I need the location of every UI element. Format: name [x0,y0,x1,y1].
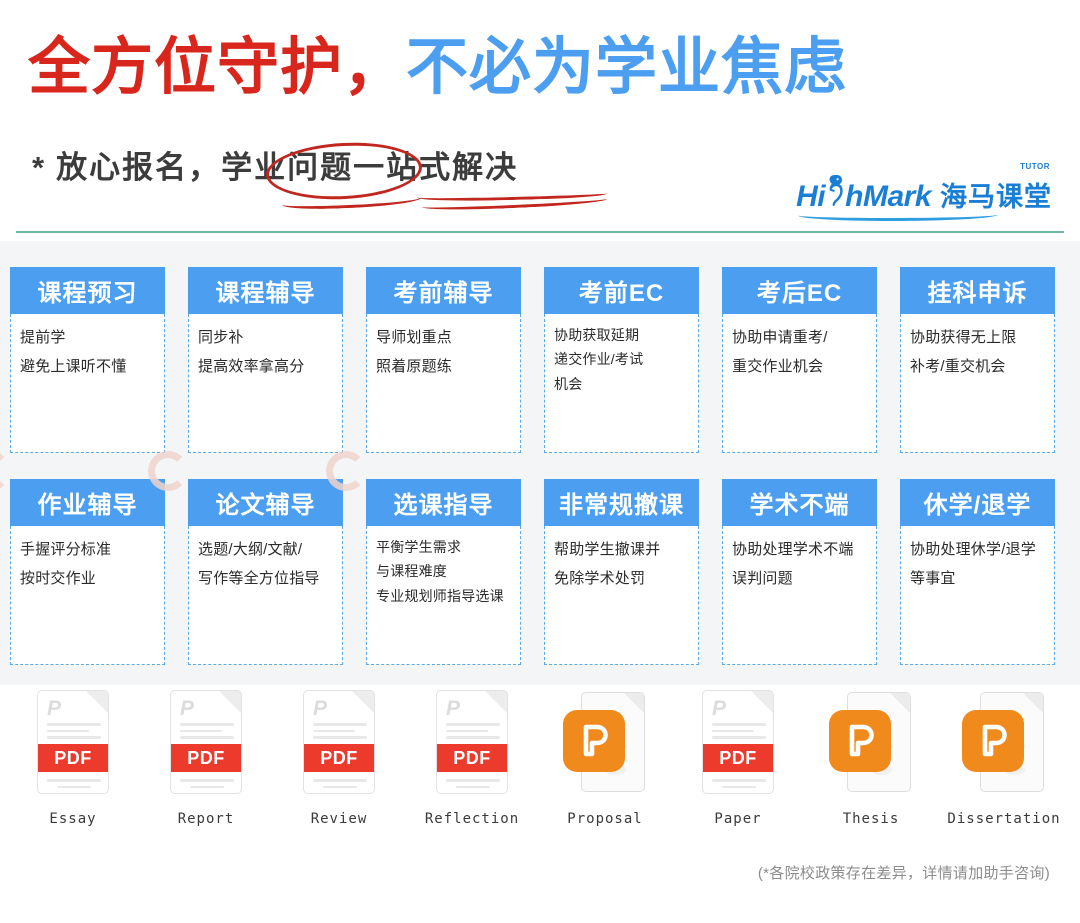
orange-p-badge-icon [829,710,891,772]
red-underline-annotation-icon-3 [422,194,607,212]
service-card-line: 等事宜 [910,571,1045,588]
page-title-blue: 不必为学业焦虑 [406,33,847,102]
text-lines-decor-bottom [446,779,500,792]
service-card[interactable]: 考后EC协助申请重考/重交作业机会 [722,267,877,453]
service-card-line: 选题/大纲/文献/ [198,542,333,559]
service-card[interactable]: 休学/退学协助处理休学/退学等事宜 [900,479,1055,665]
page-title: 全方位守护，不必为学业焦虑 [28,34,847,102]
document-type-label: Paper [714,811,761,827]
text-lines-decor [47,723,101,743]
logo-swoosh-icon [798,209,998,221]
text-lines-decor-bottom [180,779,234,792]
text-lines-decor-bottom [313,779,367,792]
service-card[interactable]: 作业辅导手握评分标准按时交作业 [10,479,165,665]
page-fold-icon [1023,693,1043,713]
pdf-file-icon: PPDF [428,690,516,802]
service-card-title: 论文辅导 [188,479,343,526]
document-type-item[interactable]: PPDFReport [159,690,253,827]
seahorse-icon [826,174,844,206]
service-card[interactable]: 非常规撤课帮助学生撤课并免除学术处罚 [544,479,699,665]
pdf-label: PDF [171,744,241,772]
pdf-sheet: PPDF [170,690,242,794]
document-type-label: Thesis [843,811,900,827]
service-card-line: 重交作业机会 [732,359,867,376]
service-card-title: 休学/退学 [900,479,1055,526]
footer-note: (*各院校政策存在差异，详情请加助手咨询) [758,862,1050,883]
service-card[interactable]: 挂科申诉协助获得无上限补考/重交机会 [900,267,1055,453]
service-card-line: 补考/重交机会 [910,359,1045,376]
service-card-body: 协助获取延期递交作业/考试机会 [544,314,699,453]
page-fold-icon [352,691,374,713]
service-card[interactable]: 考前EC协助获取延期递交作业/考试机会 [544,267,699,453]
watermark-p-icon: P [180,698,194,719]
service-card-title: 作业辅导 [10,479,165,526]
service-card-body: 同步补提高效率拿高分 [188,314,343,453]
service-card-title: 非常规撤课 [544,479,699,526]
service-card-line: 协助处理学术不端 [732,542,867,559]
service-card-body: 选题/大纲/文献/写作等全方位指导 [188,526,343,665]
page-fold-icon [890,693,910,713]
service-card-line: 按时交作业 [20,571,155,588]
service-card-line: 递交作业/考试 [554,352,689,367]
service-card-body: 平衡学生需求与课程难度专业规划师指导选课 [366,526,521,665]
editor-app-file-icon [960,690,1048,802]
watermark-p-icon: P [47,698,61,719]
service-card-line: 协助申请重考/ [732,330,867,347]
pdf-label: PDF [38,744,108,772]
service-card-line: 照着原题练 [376,359,511,376]
service-card[interactable]: 课程预习提前学避免上课听不懂 [10,267,165,453]
brand-logo: Hi hMark TUTOR 海马课堂 [796,170,1052,212]
service-card-line: 与课程难度 [376,564,511,579]
header-divider [16,231,1064,233]
pdf-label: PDF [304,744,374,772]
service-card-body: 协助处理学术不端误判问题 [722,526,877,665]
service-card-line: 写作等全方位指导 [198,571,333,588]
service-card-body: 协助申请重考/重交作业机会 [722,314,877,453]
service-card-line: 导师划重点 [376,330,511,347]
pdf-file-icon: PPDF [29,690,117,802]
text-lines-decor [446,723,500,743]
page-fold-icon [485,691,507,713]
logo-text-part1: Hi [796,182,825,212]
service-card-line: 提前学 [20,330,155,347]
service-card-title: 考前EC [544,267,699,314]
service-card-body: 协助获得无上限补考/重交机会 [900,314,1055,453]
red-underline-annotation-icon [282,192,422,211]
document-type-item[interactable]: Dissertation [957,690,1051,827]
header-section: 全方位守护，不必为学业焦虑 *放心报名，学业问题一站式解决 Hi hMark [0,0,1080,232]
text-lines-decor-bottom [712,779,766,792]
service-card-body: 帮助学生撤课并免除学术处罚 [544,526,699,665]
text-lines-decor [180,723,234,743]
poster-root: 全方位守护，不必为学业焦虑 *放心报名，学业问题一站式解决 Hi hMark [0,0,1080,923]
document-type-label: Report [178,811,235,827]
logo-chinese-name: 海马课堂 [940,184,1052,211]
document-type-item[interactable]: PPDFEssay [26,690,120,827]
pdf-sheet: PPDF [303,690,375,794]
logo-superscript: TUTOR [1020,163,1050,171]
orange-p-badge-icon [962,710,1024,772]
service-card[interactable]: 论文辅导选题/大纲/文献/写作等全方位指导 [188,479,343,665]
service-card[interactable]: 选课指导平衡学生需求与课程难度专业规划师指导选课 [366,479,521,665]
document-type-label: Essay [49,811,96,827]
service-card-line: 免除学术处罚 [554,571,689,588]
page-fold-icon [219,691,241,713]
service-card-body: 导师划重点照着原题练 [366,314,521,453]
text-lines-decor [712,723,766,743]
pdf-label: PDF [437,744,507,772]
pdf-file-icon: PPDF [694,690,782,802]
service-card-title: 课程预习 [10,267,165,314]
service-card-line: 误判问题 [732,571,867,588]
service-card-line: 帮助学生撤课并 [554,542,689,559]
watermark-p-icon: P [313,698,327,719]
subtitle-star: * [32,150,46,185]
text-lines-decor-bottom [47,779,101,792]
document-type-label: Review [311,811,368,827]
subtitle: *放心报名，学业问题一站式解决 [32,146,518,190]
subtitle-block: *放心报名，学业问题一站式解决 [32,146,518,196]
service-card-line: 提高效率拿高分 [198,359,333,376]
pdf-sheet: PPDF [702,690,774,794]
service-card-title: 考后EC [722,267,877,314]
subtitle-text: 放心报名，学业问题一站式解决 [56,150,518,185]
logo-text-part2: hMark [845,182,931,212]
logo-wordmark: Hi hMark TUTOR 海马课堂 [796,174,1052,212]
service-card-line: 专业规划师指导选课 [376,589,511,604]
watermark-p-icon: P [446,698,460,719]
service-card-body: 提前学避免上课听不懂 [10,314,165,453]
document-type-label: Proposal [567,811,642,827]
service-card-body: 手握评分标准按时交作业 [10,526,165,665]
service-card-row: 课程预习提前学避免上课听不懂课程辅导同步补提高效率拿高分考前辅导导师划重点照着原… [10,267,1070,453]
service-cards-panel: 课程预习提前学避免上课听不懂课程辅导同步补提高效率拿高分考前辅导导师划重点照着原… [0,241,1080,685]
service-card[interactable]: 考前辅导导师划重点照着原题练 [366,267,521,453]
editor-app-file-icon [827,690,915,802]
service-card-row: 作业辅导手握评分标准按时交作业论文辅导选题/大纲/文献/写作等全方位指导选课指导… [10,479,1070,665]
page-title-red: 全方位守护， [28,33,406,102]
circular-arrow-decor-icon [0,451,10,491]
page-fold-icon [624,693,644,713]
service-card[interactable]: 学术不端协助处理学术不端误判问题 [722,479,877,665]
service-card-body: 协助处理休学/退学等事宜 [900,526,1055,665]
document-type-item[interactable]: PPDFReview [292,690,386,827]
document-type-label: Reflection [425,811,519,827]
document-type-label: Dissertation [947,811,1060,827]
service-card-line: 平衡学生需求 [376,540,511,555]
document-type-item[interactable]: PPDFReflection [425,690,519,827]
document-type-item[interactable]: PPDFPaper [691,690,785,827]
pdf-file-icon: PPDF [162,690,250,802]
page-fold-icon [751,691,773,713]
editor-app-file-icon [561,690,649,802]
service-card-line: 手握评分标准 [20,542,155,559]
pdf-label: PDF [703,744,773,772]
service-card-line: 协助获取延期 [554,328,689,343]
document-type-item[interactable]: Thesis [824,690,918,827]
pdf-file-icon: PPDF [295,690,383,802]
document-types-strip: PPDFEssayPPDFReportPPDFReviewPPDFReflect… [0,690,1080,827]
page-fold-icon [86,691,108,713]
document-type-item[interactable]: Proposal [558,690,652,827]
pdf-sheet: PPDF [436,690,508,794]
service-card-title: 挂科申诉 [900,267,1055,314]
service-card-title: 考前辅导 [366,267,521,314]
service-card-line: 同步补 [198,330,333,347]
pdf-sheet: PPDF [37,690,109,794]
orange-p-badge-icon [563,710,625,772]
service-card-line: 避免上课听不懂 [20,359,155,376]
service-card[interactable]: 课程辅导同步补提高效率拿高分 [188,267,343,453]
watermark-p-icon: P [712,698,726,719]
service-cards-grid: 课程预习提前学避免上课听不懂课程辅导同步补提高效率拿高分考前辅导导师划重点照着原… [10,267,1070,665]
service-card-line: 机会 [554,377,689,392]
service-card-line: 协助处理休学/退学 [910,542,1045,559]
text-lines-decor [313,723,367,743]
service-card-title: 课程辅导 [188,267,343,314]
service-card-line: 协助获得无上限 [910,330,1045,347]
service-card-title: 选课指导 [366,479,521,526]
service-card-title: 学术不端 [722,479,877,526]
